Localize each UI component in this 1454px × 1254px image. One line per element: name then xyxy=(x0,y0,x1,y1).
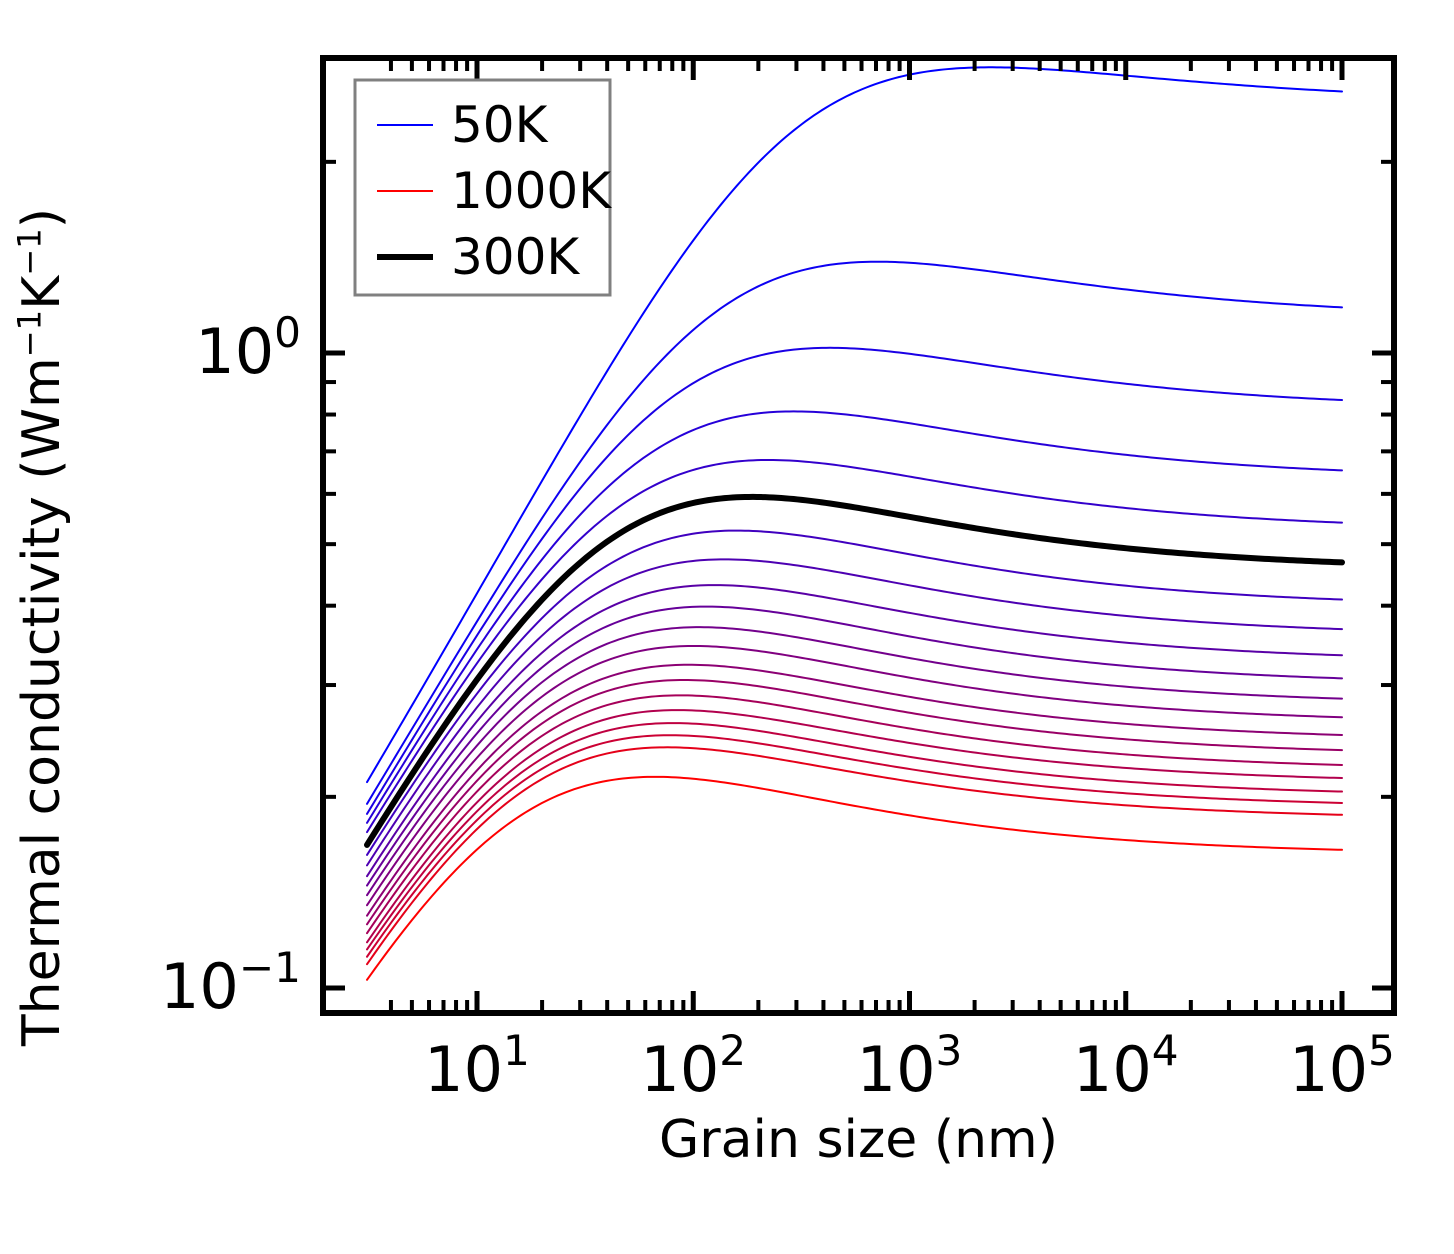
curve-100K xyxy=(367,262,1342,804)
tick-labels-group: 10110210310410510010−1 xyxy=(160,308,1395,1106)
curve-750K xyxy=(367,695,1342,933)
y-tick-label-1: 100 xyxy=(195,308,301,388)
x-axis-label: Grain size (nm) xyxy=(323,1110,1394,1170)
legend-box: 50K1000K300K xyxy=(355,80,612,295)
x-tick-label-1000: 103 xyxy=(857,1026,963,1106)
thermal-conductivity-chart: 10110210310410510010−1 50K1000K300K Ther… xyxy=(0,0,1454,1254)
curve-700K xyxy=(367,680,1342,924)
x-tick-label-100000: 105 xyxy=(1289,1026,1395,1106)
x-tick-label-100: 102 xyxy=(640,1026,746,1106)
curve-600K xyxy=(367,646,1342,905)
curve-200K xyxy=(367,411,1342,822)
curve-250K xyxy=(367,460,1342,832)
curve-1000K xyxy=(367,777,1342,980)
x-tick-label-10: 101 xyxy=(424,1026,530,1106)
plot-canvas: 10110210310410510010−1 50K1000K300K xyxy=(0,0,1454,1254)
x-tick-label-10000: 104 xyxy=(1073,1026,1179,1106)
legend-label-300K: 300K xyxy=(451,228,580,286)
y-tick-label-0.1: 10−1 xyxy=(160,943,301,1023)
legend-label-1000K: 1000K xyxy=(451,162,612,220)
legend-label-50K: 50K xyxy=(451,96,549,154)
